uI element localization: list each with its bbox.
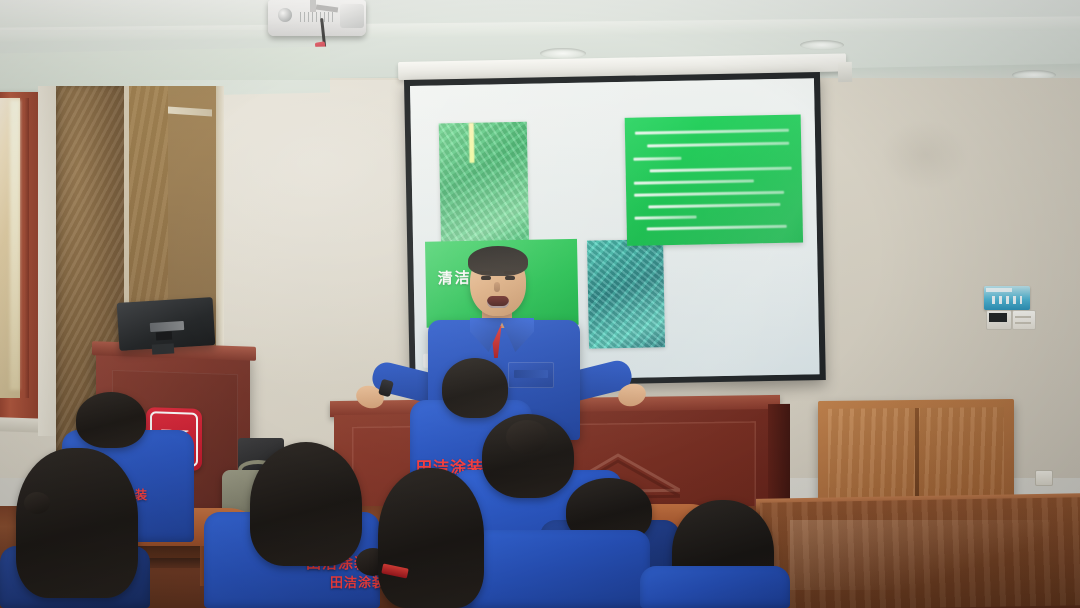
- green-foliage-photo: [587, 239, 665, 348]
- downlight-icon: [800, 40, 844, 50]
- wall-outlet-icon: [1035, 470, 1053, 486]
- panel-label-icon: [992, 296, 1022, 304]
- bamboo-leaves-photo: [439, 122, 529, 250]
- uniform-badge: [514, 370, 548, 378]
- presenter-eye: [505, 276, 515, 280]
- presenter-eyebrow: [504, 271, 516, 274]
- projector-lens-icon: [278, 8, 292, 22]
- wall-smudge: [880, 120, 970, 190]
- presenter-hair: [468, 246, 528, 276]
- projector-vents: [300, 12, 334, 22]
- monitor-logo-icon: [156, 332, 172, 341]
- light-switch[interactable]: [1012, 310, 1036, 330]
- window-glare: [10, 100, 20, 390]
- screen-roller-cap: [838, 62, 852, 82]
- thermostat-lcd-icon: [989, 313, 1007, 322]
- panel-header-strip: [986, 288, 1012, 292]
- window-mullion: [24, 98, 29, 398]
- photo-highlight: [469, 123, 475, 163]
- lecture-room-photo: 清洁生产: [0, 0, 1080, 608]
- monitor-stand: [152, 343, 175, 354]
- switch-rocker[interactable]: [1015, 316, 1031, 318]
- downlight-icon: [540, 48, 586, 59]
- window-wall-band: [38, 86, 58, 436]
- presenter-mouth: [487, 296, 509, 308]
- presenter-eyebrow: [480, 271, 492, 274]
- floor-reflection: [790, 520, 1050, 590]
- cabinet-door-seam: [915, 408, 919, 508]
- switch-rocker[interactable]: [1015, 322, 1031, 324]
- projector-mount: [310, 0, 316, 12]
- presenter-nose: [494, 282, 500, 292]
- slide-text-panel: [625, 115, 803, 246]
- presenter-eye: [481, 276, 491, 280]
- projector-lens-housing: [340, 4, 364, 28]
